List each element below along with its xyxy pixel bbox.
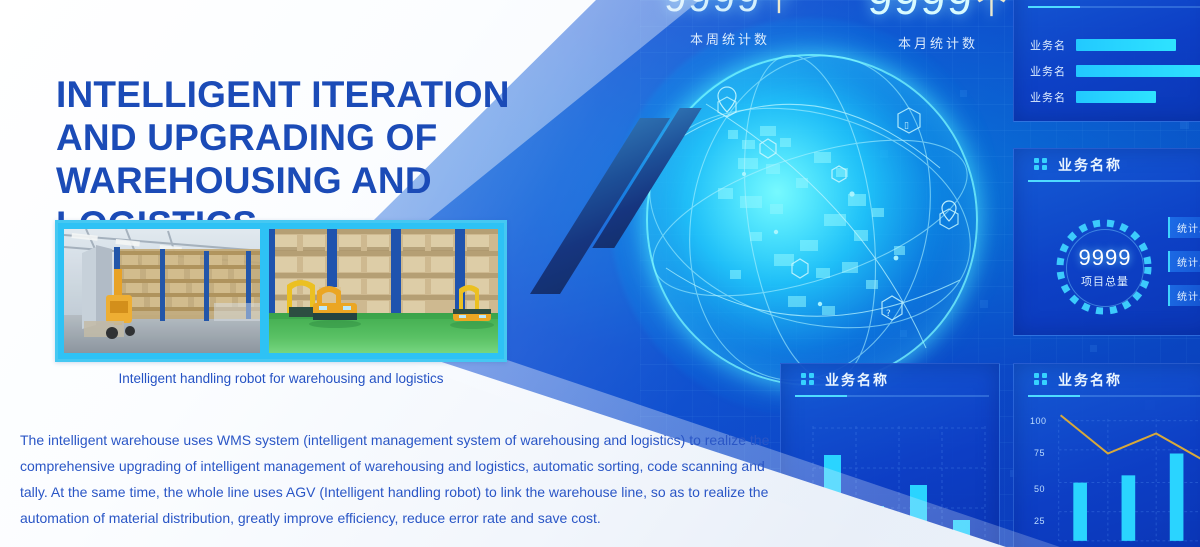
photo-gallery-frame	[55, 220, 507, 362]
card-header: 业务名称	[1014, 364, 1200, 394]
stat-chip-label: 统计人数	[1177, 288, 1200, 303]
stat-monthly: 9999个 本月统计数	[848, 0, 1028, 52]
photo-forklift-svg	[64, 229, 260, 353]
value-bar	[1076, 65, 1200, 77]
card-underline	[795, 395, 989, 397]
list-item-label: 业务名	[1030, 89, 1066, 105]
body-paragraph: The intelligent warehouse uses WMS syste…	[20, 428, 780, 532]
stat-monthly-label: 本月统计数	[848, 33, 1028, 52]
gauge-label: 项目总量	[1081, 273, 1129, 289]
stat-chip-label: 统计人数	[1177, 220, 1200, 235]
combo-chart-svg	[1026, 408, 1200, 545]
grid-squares-icon	[1034, 373, 1048, 386]
grid-squares-icon	[801, 373, 815, 386]
stat-monthly-value: 9999个	[848, 0, 1028, 22]
stat-chip[interactable]: 统计人数	[1168, 217, 1200, 238]
value-bar	[1076, 91, 1156, 103]
card-header: 业务统计	[1014, 0, 1200, 5]
banner-stage: ▯? 9999个 本周统计数 9999个 本月统计数 业务统计	[0, 0, 1200, 547]
project-total-gauge: 9999 项目总量	[1052, 215, 1156, 319]
stat-chip[interactable]: 统计人数	[1168, 251, 1200, 272]
card-underline	[1028, 395, 1200, 397]
stat-chip[interactable]: 统计人数	[1168, 285, 1200, 306]
card-header: 业务名称	[781, 364, 999, 394]
stat-chip-label: 统计人数	[1177, 254, 1200, 269]
gauge-center: 9999 项目总量	[1066, 229, 1144, 307]
photo-warehouse-forklift	[64, 229, 260, 353]
list-item[interactable]: 业务名	[1030, 65, 1200, 77]
card-underline	[1028, 6, 1200, 8]
card-title: 业务名称	[1058, 370, 1122, 390]
y-tick-25: 25	[1034, 516, 1045, 526]
globe-graphic: ▯?	[610, 18, 1010, 418]
y-tick-75: 75	[1034, 448, 1045, 458]
y-tick-50: 50	[1034, 484, 1045, 494]
card-project-total[interactable]: 业务名称 9999 项目总量 统计人数 统计人数 统计人数	[1013, 148, 1200, 336]
stat-weekly-label: 本周统计数	[648, 29, 812, 48]
card-combo-chart[interactable]: 业务名称 100 75 50 25	[1013, 363, 1200, 547]
stat-weekly-unit: 个	[764, 0, 796, 18]
card-title: 业务统计	[1058, 0, 1122, 1]
list-item[interactable]: 业务名	[1030, 39, 1200, 51]
photo-caption: Intelligent handling robot for warehousi…	[55, 371, 507, 386]
globe-outer-ring	[646, 54, 978, 386]
list-item-label: 业务名	[1030, 63, 1066, 79]
card-title: 业务名称	[825, 370, 889, 390]
y-tick-100: 100	[1030, 416, 1047, 426]
card-title: 业务名称	[1058, 155, 1122, 175]
card-underline	[1028, 180, 1200, 182]
list-item-label: 业务名	[1030, 37, 1066, 53]
card-header: 业务名称	[1014, 149, 1200, 179]
list-item[interactable]: 业务名	[1030, 91, 1200, 103]
card-business-statistics[interactable]: 业务统计 业务名 业务名 业务名	[1013, 0, 1200, 122]
grid-squares-icon	[1034, 158, 1048, 171]
stat-monthly-unit: 个	[976, 0, 1008, 21]
gauge-value: 9999	[1079, 247, 1132, 269]
photo-agv-svg	[269, 229, 498, 353]
value-bar	[1076, 39, 1176, 51]
photo-agv-robots	[269, 229, 498, 353]
